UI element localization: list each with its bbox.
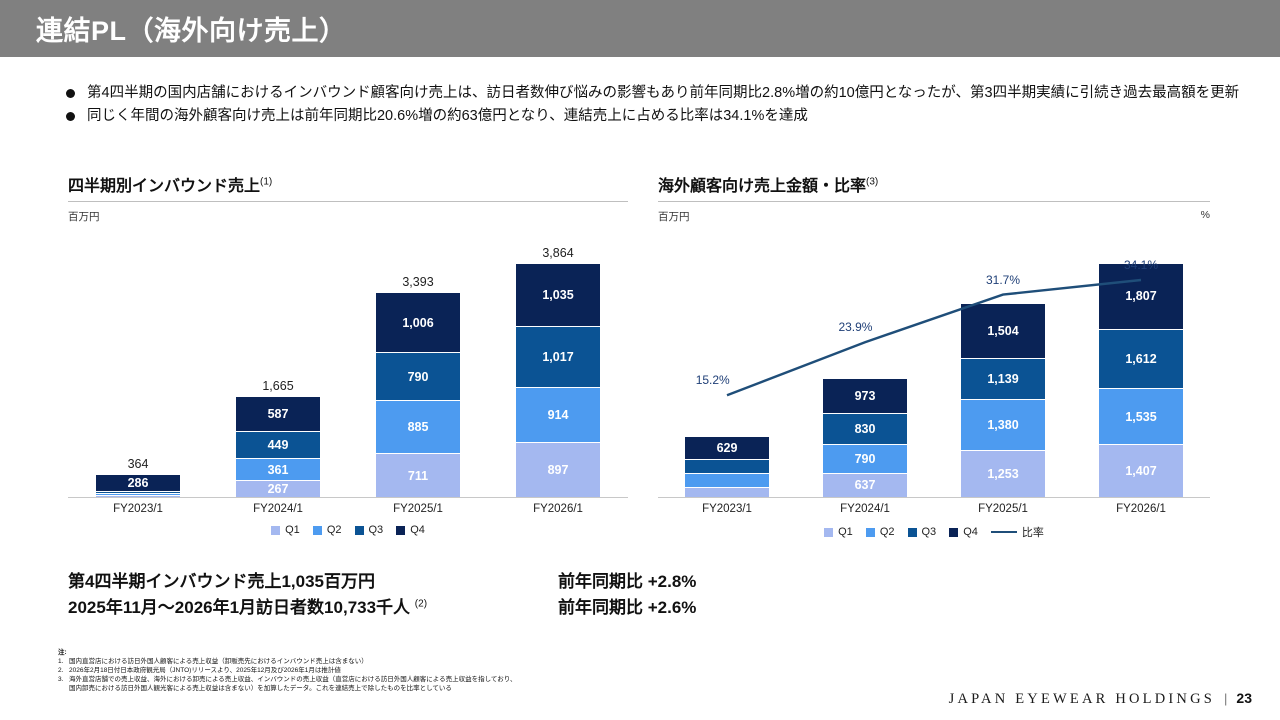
x-axis-label: FY2025/1 xyxy=(348,503,488,515)
legend-item-q4[interactable]: Q4 xyxy=(396,524,425,536)
bar-segment[interactable]: 1,253 xyxy=(961,451,1045,497)
bar-segment[interactable]: 1,807 xyxy=(1099,264,1183,330)
bar-segment[interactable]: 711 xyxy=(376,454,460,497)
legend-swatch-q4-icon xyxy=(949,528,958,537)
legend-item-q2[interactable]: Q2 xyxy=(313,524,342,536)
footnote-text: 国内直営店における訪日外国人顧客による売上収益（卸販売先におけるインバウンド売上… xyxy=(69,657,368,666)
legend-swatch-q2-icon xyxy=(313,526,322,535)
bar-segment[interactable]: 885 xyxy=(376,401,460,454)
legend-swatch-q2-icon xyxy=(866,528,875,537)
bar-total-label: 1,665 xyxy=(262,379,293,393)
x-axis-label: FY2023/1 xyxy=(68,503,208,515)
unit-label-right-y1: 百万円 xyxy=(658,209,690,224)
chart-title-left: 四半期別インバウンド売上(1) xyxy=(68,172,628,201)
legend-swatch-q1-icon xyxy=(824,528,833,537)
list-item: 同じく年間の海外顧客向け売上は前年同期比20.6%増の約63億円となり、連結売上… xyxy=(66,106,1246,126)
footnote-item: 3. 海外直営店舗での売上収益、海外における卸売による売上収益、インバウンドの売… xyxy=(58,675,1058,684)
legend-swatch-q3-icon xyxy=(908,528,917,537)
legend-item-q1[interactable]: Q1 xyxy=(824,526,853,538)
legend-item-q2[interactable]: Q2 xyxy=(866,526,895,538)
x-axis-label: FY2026/1 xyxy=(488,503,628,515)
bar-stack: 1,0351,017914897 xyxy=(516,264,600,497)
bar-stack: 1,8071,6121,5351,407 xyxy=(1099,264,1183,497)
bar-segment[interactable]: 361 xyxy=(236,459,320,481)
chart-title-right-text: 海外顧客向け売上金額・比率 xyxy=(658,178,866,195)
legend-swatch-q3-icon xyxy=(355,526,364,535)
summary-footnote-ref: (2) xyxy=(415,598,427,609)
bar-stack: 1,5041,1391,3801,253 xyxy=(961,304,1045,497)
legend-label-q1: Q1 xyxy=(838,526,853,538)
slide-header-band: 連結PL（海外向け売上） xyxy=(0,0,1280,57)
bar-total-spacer xyxy=(725,419,728,433)
legend-label-q1: Q1 xyxy=(285,524,300,536)
chart-panel-quarterly-inbound: 四半期別インバウンド売上(1) 百万円 3642861,665587449361… xyxy=(68,172,628,536)
legend-item-q3[interactable]: Q3 xyxy=(355,524,384,536)
unit-label-right-y2: % xyxy=(1201,209,1210,224)
chart-unit-row-right: 百万円 % xyxy=(658,209,1210,224)
bar-segment[interactable]: 1,504 xyxy=(961,304,1045,359)
bar-segment[interactable] xyxy=(685,488,769,497)
divider xyxy=(658,201,1210,202)
legend-label-q2: Q2 xyxy=(880,526,895,538)
footnote-number: 3. xyxy=(58,675,69,684)
legend-item-q4[interactable]: Q4 xyxy=(949,526,978,538)
bullet-dot-icon xyxy=(66,89,75,98)
bar-segment[interactable]: 449 xyxy=(236,432,320,459)
bullet-dot-icon xyxy=(66,112,75,121)
summary-label-text: 2025年11月～2026年1月訪日者数10,733千人 xyxy=(68,598,410,617)
footer-separator: | xyxy=(1224,691,1227,706)
x-axis-labels-right: FY2023/1FY2024/1FY2025/1FY2026/1 xyxy=(658,503,1210,515)
x-axis-label: FY2024/1 xyxy=(208,503,348,515)
bar-segment[interactable] xyxy=(685,460,769,473)
bar-segment[interactable]: 1,006 xyxy=(376,293,460,354)
bar-total-label: 3,864 xyxy=(542,246,573,260)
chart-title-left-footnote-ref: (1) xyxy=(260,177,272,188)
page-title: 連結PL（海外向け売上） xyxy=(36,9,347,48)
slide-footer: JAPAN EYEWEAR HOLDINGS | 23 xyxy=(949,690,1252,708)
legend-label-q2: Q2 xyxy=(327,524,342,536)
legend-left: Q1 Q2 Q3 Q4 xyxy=(68,524,628,536)
summary-block: 第4四半期インバウンド売上1,035百万円 前年同期比 +2.8% 2025年1… xyxy=(68,567,868,619)
bar-group: 3,3931,006790885711 xyxy=(348,226,488,497)
legend-item-ratio[interactable]: 比率 xyxy=(991,524,1044,540)
bullet-list: 第4四半期の国内店舗におけるインバウンド顧客向け売上は、訪日者数伸び悩みの影響も… xyxy=(66,83,1246,129)
bar-segment[interactable]: 286 xyxy=(96,475,180,492)
bar-group: 629 xyxy=(658,226,796,497)
bar-group: 1,5041,1391,3801,253 xyxy=(934,226,1072,497)
ratio-value-label: 23.9% xyxy=(838,320,872,334)
bullet-text: 同じく年間の海外顧客向け売上は前年同期比20.6%増の約63億円となり、連結売上… xyxy=(87,106,808,126)
bar-stack: 973830790637 xyxy=(823,379,907,497)
x-axis-label: FY2024/1 xyxy=(796,503,934,515)
legend-line-ratio-icon xyxy=(991,531,1017,534)
company-name: JAPAN EYEWEAR HOLDINGS xyxy=(949,691,1215,708)
bar-segment[interactable]: 1,139 xyxy=(961,359,1045,401)
bar-segment[interactable]: 1,407 xyxy=(1099,445,1183,497)
bar-segment[interactable]: 629 xyxy=(685,437,769,460)
x-axis-label: FY2023/1 xyxy=(658,503,796,515)
footnote-number: 2. xyxy=(58,666,69,675)
bar-stack: 629 xyxy=(685,437,769,497)
footnotes-heading: 注: xyxy=(58,648,1058,657)
legend-item-q3[interactable]: Q3 xyxy=(908,526,937,538)
chart-title-right-footnote-ref: (3) xyxy=(866,177,878,188)
bar-segment[interactable]: 1,017 xyxy=(516,327,600,388)
bar-segment[interactable]: 1,035 xyxy=(516,264,600,326)
legend-label-q4: Q4 xyxy=(963,526,978,538)
footnote-item: 1. 国内直営店における訪日外国人顧客による売上収益（卸販売先におけるインバウン… xyxy=(58,657,1058,666)
bar-group: 973830790637 xyxy=(796,226,934,497)
plot-area-left: 3642861,6655874493612673,3931,0067908857… xyxy=(68,226,628,498)
summary-label: 2025年11月～2026年1月訪日者数10,733千人 (2) xyxy=(68,593,558,618)
footnote-number: 1. xyxy=(58,657,69,666)
x-axis-line xyxy=(68,497,628,498)
footnote-text: 海外直営店舗での売上収益、海外における卸売による売上収益、インバウンドの売上収益… xyxy=(69,675,516,684)
bar-segment[interactable]: 267 xyxy=(236,481,320,497)
legend-label-q3: Q3 xyxy=(369,524,384,536)
list-item: 第4四半期の国内店舗におけるインバウンド顧客向け売上は、訪日者数伸び悩みの影響も… xyxy=(66,83,1246,103)
bar-segment[interactable]: 587 xyxy=(236,397,320,432)
chart-panel-overseas-sales: 海外顧客向け売上金額・比率(3) 百万円 % 629 973830790637 … xyxy=(658,172,1210,540)
x-axis-line xyxy=(658,497,1210,498)
page-number: 23 xyxy=(1236,690,1252,706)
bar-group: 1,665587449361267 xyxy=(208,226,348,497)
bar-group: 3,8641,0351,017914897 xyxy=(488,226,628,497)
bar-total-label: 364 xyxy=(128,457,149,471)
summary-label-text: 第4四半期インバウンド売上1,035百万円 xyxy=(68,572,375,591)
ratio-value-label: 34.1% xyxy=(1124,258,1158,272)
chart-unit-row-left: 百万円 xyxy=(68,209,628,224)
bar-segment[interactable]: 1,535 xyxy=(1099,389,1183,445)
unit-label-left-y1: 百万円 xyxy=(68,209,100,224)
legend-label-ratio: 比率 xyxy=(1022,524,1044,540)
footnote-text: 2026年2月18日付日本政府観光局（JNTO)リリースより、2025年12月及… xyxy=(69,666,341,675)
bar-total-spacer xyxy=(1001,286,1004,300)
bar-stack: 286 xyxy=(96,475,180,497)
bar-segment[interactable]: 914 xyxy=(516,388,600,443)
bar-group: 364286 xyxy=(68,226,208,497)
summary-value: 前年同期比 +2.6% xyxy=(558,593,696,618)
x-axis-label: FY2025/1 xyxy=(934,503,1072,515)
bar-segment[interactable]: 790 xyxy=(823,445,907,474)
bar-total-spacer xyxy=(863,361,866,375)
bar-segment[interactable]: 1,380 xyxy=(961,400,1045,451)
summary-value: 前年同期比 +2.8% xyxy=(558,567,696,592)
bar-segment[interactable] xyxy=(685,474,769,488)
bar-segment[interactable]: 1,612 xyxy=(1099,330,1183,389)
summary-row: 第4四半期インバウンド売上1,035百万円 前年同期比 +2.8% xyxy=(68,567,868,592)
plot-area-right: 629 973830790637 1,5041,1391,3801,253 1,… xyxy=(658,226,1210,498)
bar-segment[interactable]: 830 xyxy=(823,414,907,444)
ratio-value-label: 31.7% xyxy=(986,273,1020,287)
bar-segment[interactable]: 790 xyxy=(376,353,460,401)
legend-label-q4: Q4 xyxy=(410,524,425,536)
x-axis-labels-left: FY2023/1FY2024/1FY2025/1FY2026/1 xyxy=(68,503,628,515)
legend-right: Q1 Q2 Q3 Q4 比率 xyxy=(658,524,1210,540)
chart-title-right: 海外顧客向け売上金額・比率(3) xyxy=(658,172,1210,201)
legend-swatch-q1-icon xyxy=(271,526,280,535)
bar-segment[interactable]: 637 xyxy=(823,474,907,497)
summary-label: 第4四半期インバウンド売上1,035百万円 xyxy=(68,567,558,592)
bullet-text: 第4四半期の国内店舗におけるインバウンド顧客向け売上は、訪日者数伸び悩みの影響も… xyxy=(87,83,1239,103)
bar-total-label: 3,393 xyxy=(402,275,433,289)
summary-row: 2025年11月～2026年1月訪日者数10,733千人 (2) 前年同期比 +… xyxy=(68,593,868,618)
footnote-item: 2. 2026年2月18日付日本政府観光局（JNTO)リリースより、2025年1… xyxy=(58,666,1058,675)
legend-item-q1[interactable]: Q1 xyxy=(271,524,300,536)
bar-stack: 587449361267 xyxy=(236,397,320,497)
ratio-value-label: 15.2% xyxy=(696,373,730,387)
bar-segment[interactable]: 973 xyxy=(823,379,907,415)
bar-stack: 1,006790885711 xyxy=(376,293,460,497)
footnote-continuation: 国内卸売における訪日外国人観光客による売上収益は含まない）を加算したデータ。これ… xyxy=(58,684,1058,693)
chart-title-left-text: 四半期別インバウンド売上 xyxy=(68,178,260,195)
x-axis-label: FY2026/1 xyxy=(1072,503,1210,515)
legend-swatch-q4-icon xyxy=(396,526,405,535)
bar-segment[interactable]: 897 xyxy=(516,443,600,497)
footnotes-block: 注: 1. 国内直営店における訪日外国人顧客による売上収益（卸販売先におけるイン… xyxy=(58,648,1058,693)
legend-label-q3: Q3 xyxy=(922,526,937,538)
divider xyxy=(68,201,628,202)
bar-series-left: 3642861,6655874493612673,3931,0067908857… xyxy=(68,226,628,497)
